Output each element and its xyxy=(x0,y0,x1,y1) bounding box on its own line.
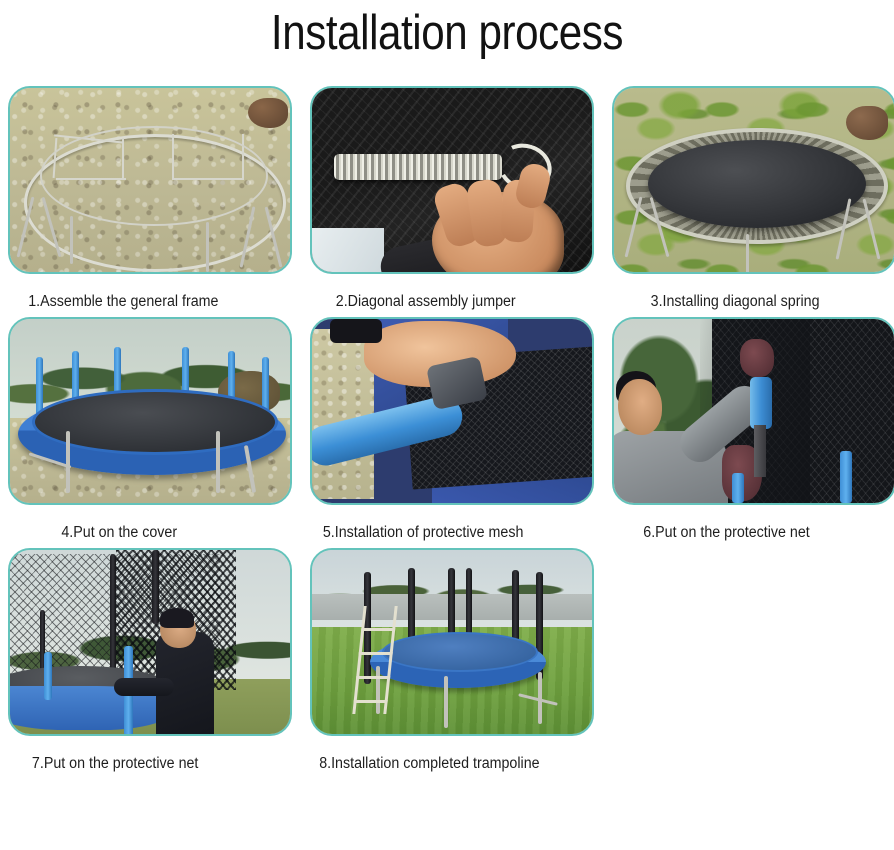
steps-row-2: 4.Put on the cover 5.Installation of pro… xyxy=(8,317,886,543)
step-caption-7: 7.Put on the protective net xyxy=(8,754,269,774)
step-image-7 xyxy=(8,548,292,736)
step-card-2: 2.Diagonal assembly jumper xyxy=(310,86,594,312)
step-caption-1: 1.Assemble the general frame xyxy=(8,292,269,312)
ladder-rung xyxy=(359,652,393,655)
step-image-1 xyxy=(8,86,292,274)
frame-inner-ring xyxy=(40,126,268,226)
blue-foam-sleeve xyxy=(44,652,52,700)
step-image-3 xyxy=(612,86,894,274)
rock-shape xyxy=(248,98,288,128)
step-card-5: 5.Installation of protective mesh xyxy=(310,317,594,543)
step-image-4 xyxy=(8,317,292,505)
blue-foam-sleeve xyxy=(750,377,772,429)
step-card-7: 7.Put on the protective net xyxy=(8,548,292,774)
ladder-rung xyxy=(353,700,387,703)
ladder-rung xyxy=(356,676,390,679)
step-caption-8: 8.Installation completed trampoline xyxy=(310,754,571,774)
enclosure-pole xyxy=(732,473,744,503)
spring-coil xyxy=(334,154,502,180)
step-caption-3: 3.Installing diagonal spring xyxy=(612,292,873,312)
person-hair xyxy=(160,608,194,628)
person-head xyxy=(618,379,662,435)
ladder-rung xyxy=(361,628,395,631)
frame-leg xyxy=(206,222,209,272)
step-image-8 xyxy=(310,548,594,736)
step-caption-5: 5.Installation of protective mesh xyxy=(310,523,571,543)
enclosure-pole xyxy=(466,568,472,640)
enclosure-pole xyxy=(408,568,415,646)
rock-shape xyxy=(846,106,888,140)
step-image-6 xyxy=(612,317,894,505)
frame-leg xyxy=(444,676,448,728)
step-image-5 xyxy=(310,317,594,505)
step-card-1: 1.Assemble the general frame xyxy=(8,86,292,312)
frame-leg xyxy=(746,234,749,272)
page-title: Installation process xyxy=(63,0,832,64)
work-glove xyxy=(740,339,774,377)
pole-shaft xyxy=(754,425,766,477)
enclosure-pole xyxy=(110,554,116,686)
jump-mat xyxy=(648,140,866,228)
step-caption-4: 4.Put on the cover xyxy=(8,523,269,543)
sleeve-cuff xyxy=(330,319,382,343)
enclosure-pole xyxy=(840,451,852,503)
step-image-2 xyxy=(310,86,594,274)
white-highlight xyxy=(312,228,384,272)
frame-leg xyxy=(66,431,70,493)
step-caption-2: 2.Diagonal assembly jumper xyxy=(310,292,571,312)
step-card-3: 3.Installing diagonal spring xyxy=(612,86,894,312)
step-card-6: 6.Put on the protective net xyxy=(612,317,894,543)
steps-row-1: 1.Assemble the general frame 2 xyxy=(8,86,886,312)
steps-grid: 1.Assemble the general frame 2 xyxy=(0,86,894,774)
frame-leg xyxy=(216,431,220,493)
frame-leg xyxy=(70,216,73,264)
jump-mat xyxy=(382,632,538,672)
person-arm xyxy=(114,678,174,696)
enclosure-pole xyxy=(152,550,159,624)
step-card-8: 8.Installation completed trampoline xyxy=(310,548,594,774)
step-card-4: 4.Put on the cover xyxy=(8,317,292,543)
steps-row-3: 7.Put on the protective net xyxy=(8,548,886,774)
step-caption-6: 6.Put on the protective net xyxy=(612,523,873,543)
